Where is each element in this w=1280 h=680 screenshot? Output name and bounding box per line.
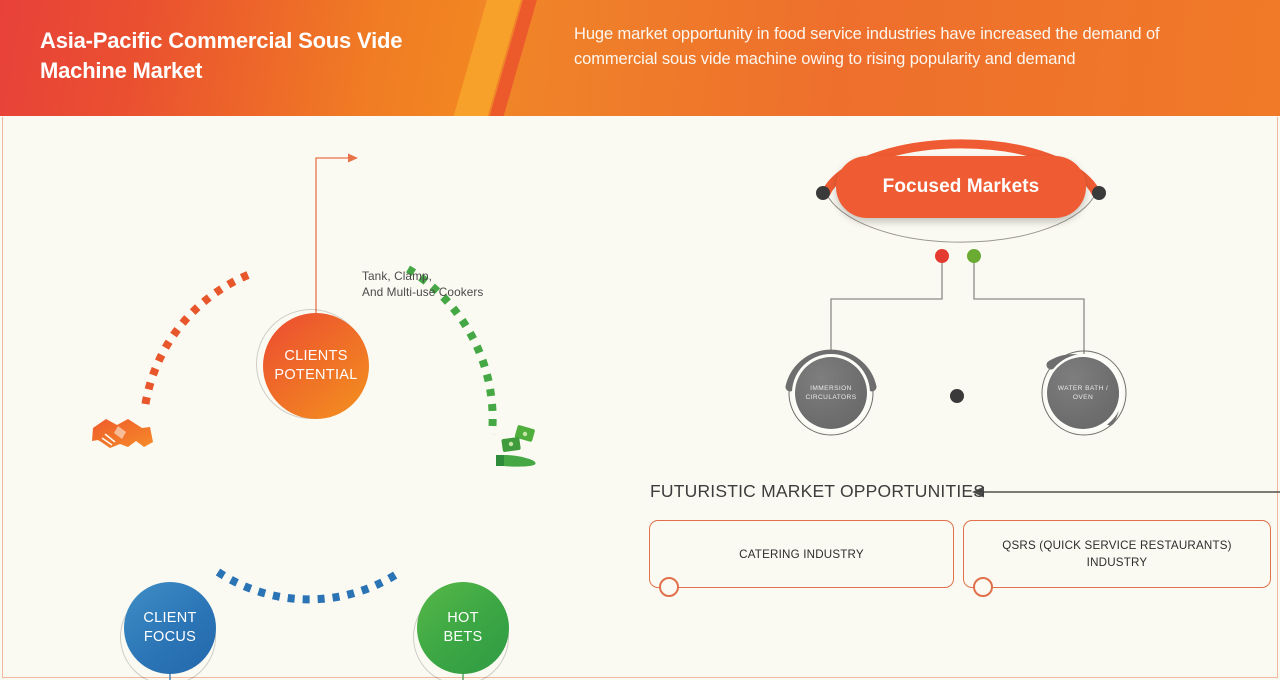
node-client-focus[interactable]: CLIENT FOCUS <box>124 582 216 674</box>
immersion-label-line2: CIRCULATORS <box>805 393 856 402</box>
hot-bets-label-line1: HOT <box>443 609 482 628</box>
clients-potential-label-line1: CLIENTS <box>274 347 357 366</box>
bracket-left <box>831 262 942 357</box>
futuristic-opportunities-title: FUTURISTIC MARKET OPPORTUNITIES <box>650 481 985 502</box>
qsrs-card-line1: QSRS (QUICK SERVICE RESTAURANTS) <box>1002 537 1232 554</box>
opportunity-card-knob-2 <box>973 577 993 597</box>
client-focus-label-line2: FOCUS <box>143 628 196 647</box>
focused-markets-section: Focused Markets IMMERSION CIRCULATORS WA… <box>640 117 1280 680</box>
header-banner: Asia-Pacific Commercial Sous Vide Machin… <box>0 0 1280 116</box>
waterbath-label-line1: WATER BATH / <box>1058 384 1108 393</box>
opportunity-card-catering-industry[interactable]: CATERING INDUSTRY <box>649 520 954 588</box>
callout-clients-potential: Tank, Clamp, And Multi-use Cookers <box>362 269 542 300</box>
hot-bets-label-line2: BETS <box>443 628 482 647</box>
money-in-hand-icon <box>494 425 542 474</box>
center-divider-dot <box>950 389 964 403</box>
immersion-label-line1: IMMERSION <box>805 384 856 393</box>
catering-card-line1: CATERING INDUSTRY <box>739 546 864 563</box>
node-hot-bets[interactable]: HOT BETS <box>417 582 509 674</box>
arc-blue-dotted <box>218 572 400 599</box>
pill-end-dot-right <box>1092 186 1106 200</box>
client-focus-label-line1: CLIENT <box>143 609 196 628</box>
bracket-right <box>974 262 1084 357</box>
page-title: Asia-Pacific Commercial Sous Vide Machin… <box>40 26 490 86</box>
focused-markets-pill[interactable]: Focused Markets <box>836 156 1086 218</box>
callout-clients-line1: Tank, Clamp, <box>362 269 542 285</box>
machine-water-bath-oven[interactable]: WATER BATH / OVEN <box>1047 357 1119 429</box>
qsrs-card-line2: INDUSTRY <box>1002 554 1232 571</box>
machine-immersion-circulators[interactable]: IMMERSION CIRCULATORS <box>795 357 867 429</box>
infographic-page: Asia-Pacific Commercial Sous Vide Machin… <box>0 0 1280 680</box>
node-clients-potential[interactable]: CLIENTS POTENTIAL <box>263 313 369 419</box>
handshake-icon <box>90 414 156 465</box>
pill-end-dot-left <box>816 186 830 200</box>
arc-orange-dotted <box>145 275 248 407</box>
green-dot <box>967 249 981 263</box>
clients-potential-label-line2: POTENTIAL <box>274 366 357 385</box>
waterbath-label-line2: OVEN <box>1058 393 1108 402</box>
arrowhead-clients-potential <box>348 154 358 163</box>
leader-clients-potential <box>316 158 348 313</box>
market-cycle-diagram: CLIENTS POTENTIAL CLIENT FOCUS HOT BETS … <box>0 117 660 680</box>
opportunity-card-qsrs-industry[interactable]: QSRS (QUICK SERVICE RESTAURANTS) INDUSTR… <box>963 520 1271 588</box>
callout-clients-line2: And Multi-use Cookers <box>362 285 542 301</box>
opportunity-card-knob-1 <box>659 577 679 597</box>
header-subtitle: Huge market opportunity in food service … <box>574 22 1234 72</box>
red-dot <box>935 249 949 263</box>
